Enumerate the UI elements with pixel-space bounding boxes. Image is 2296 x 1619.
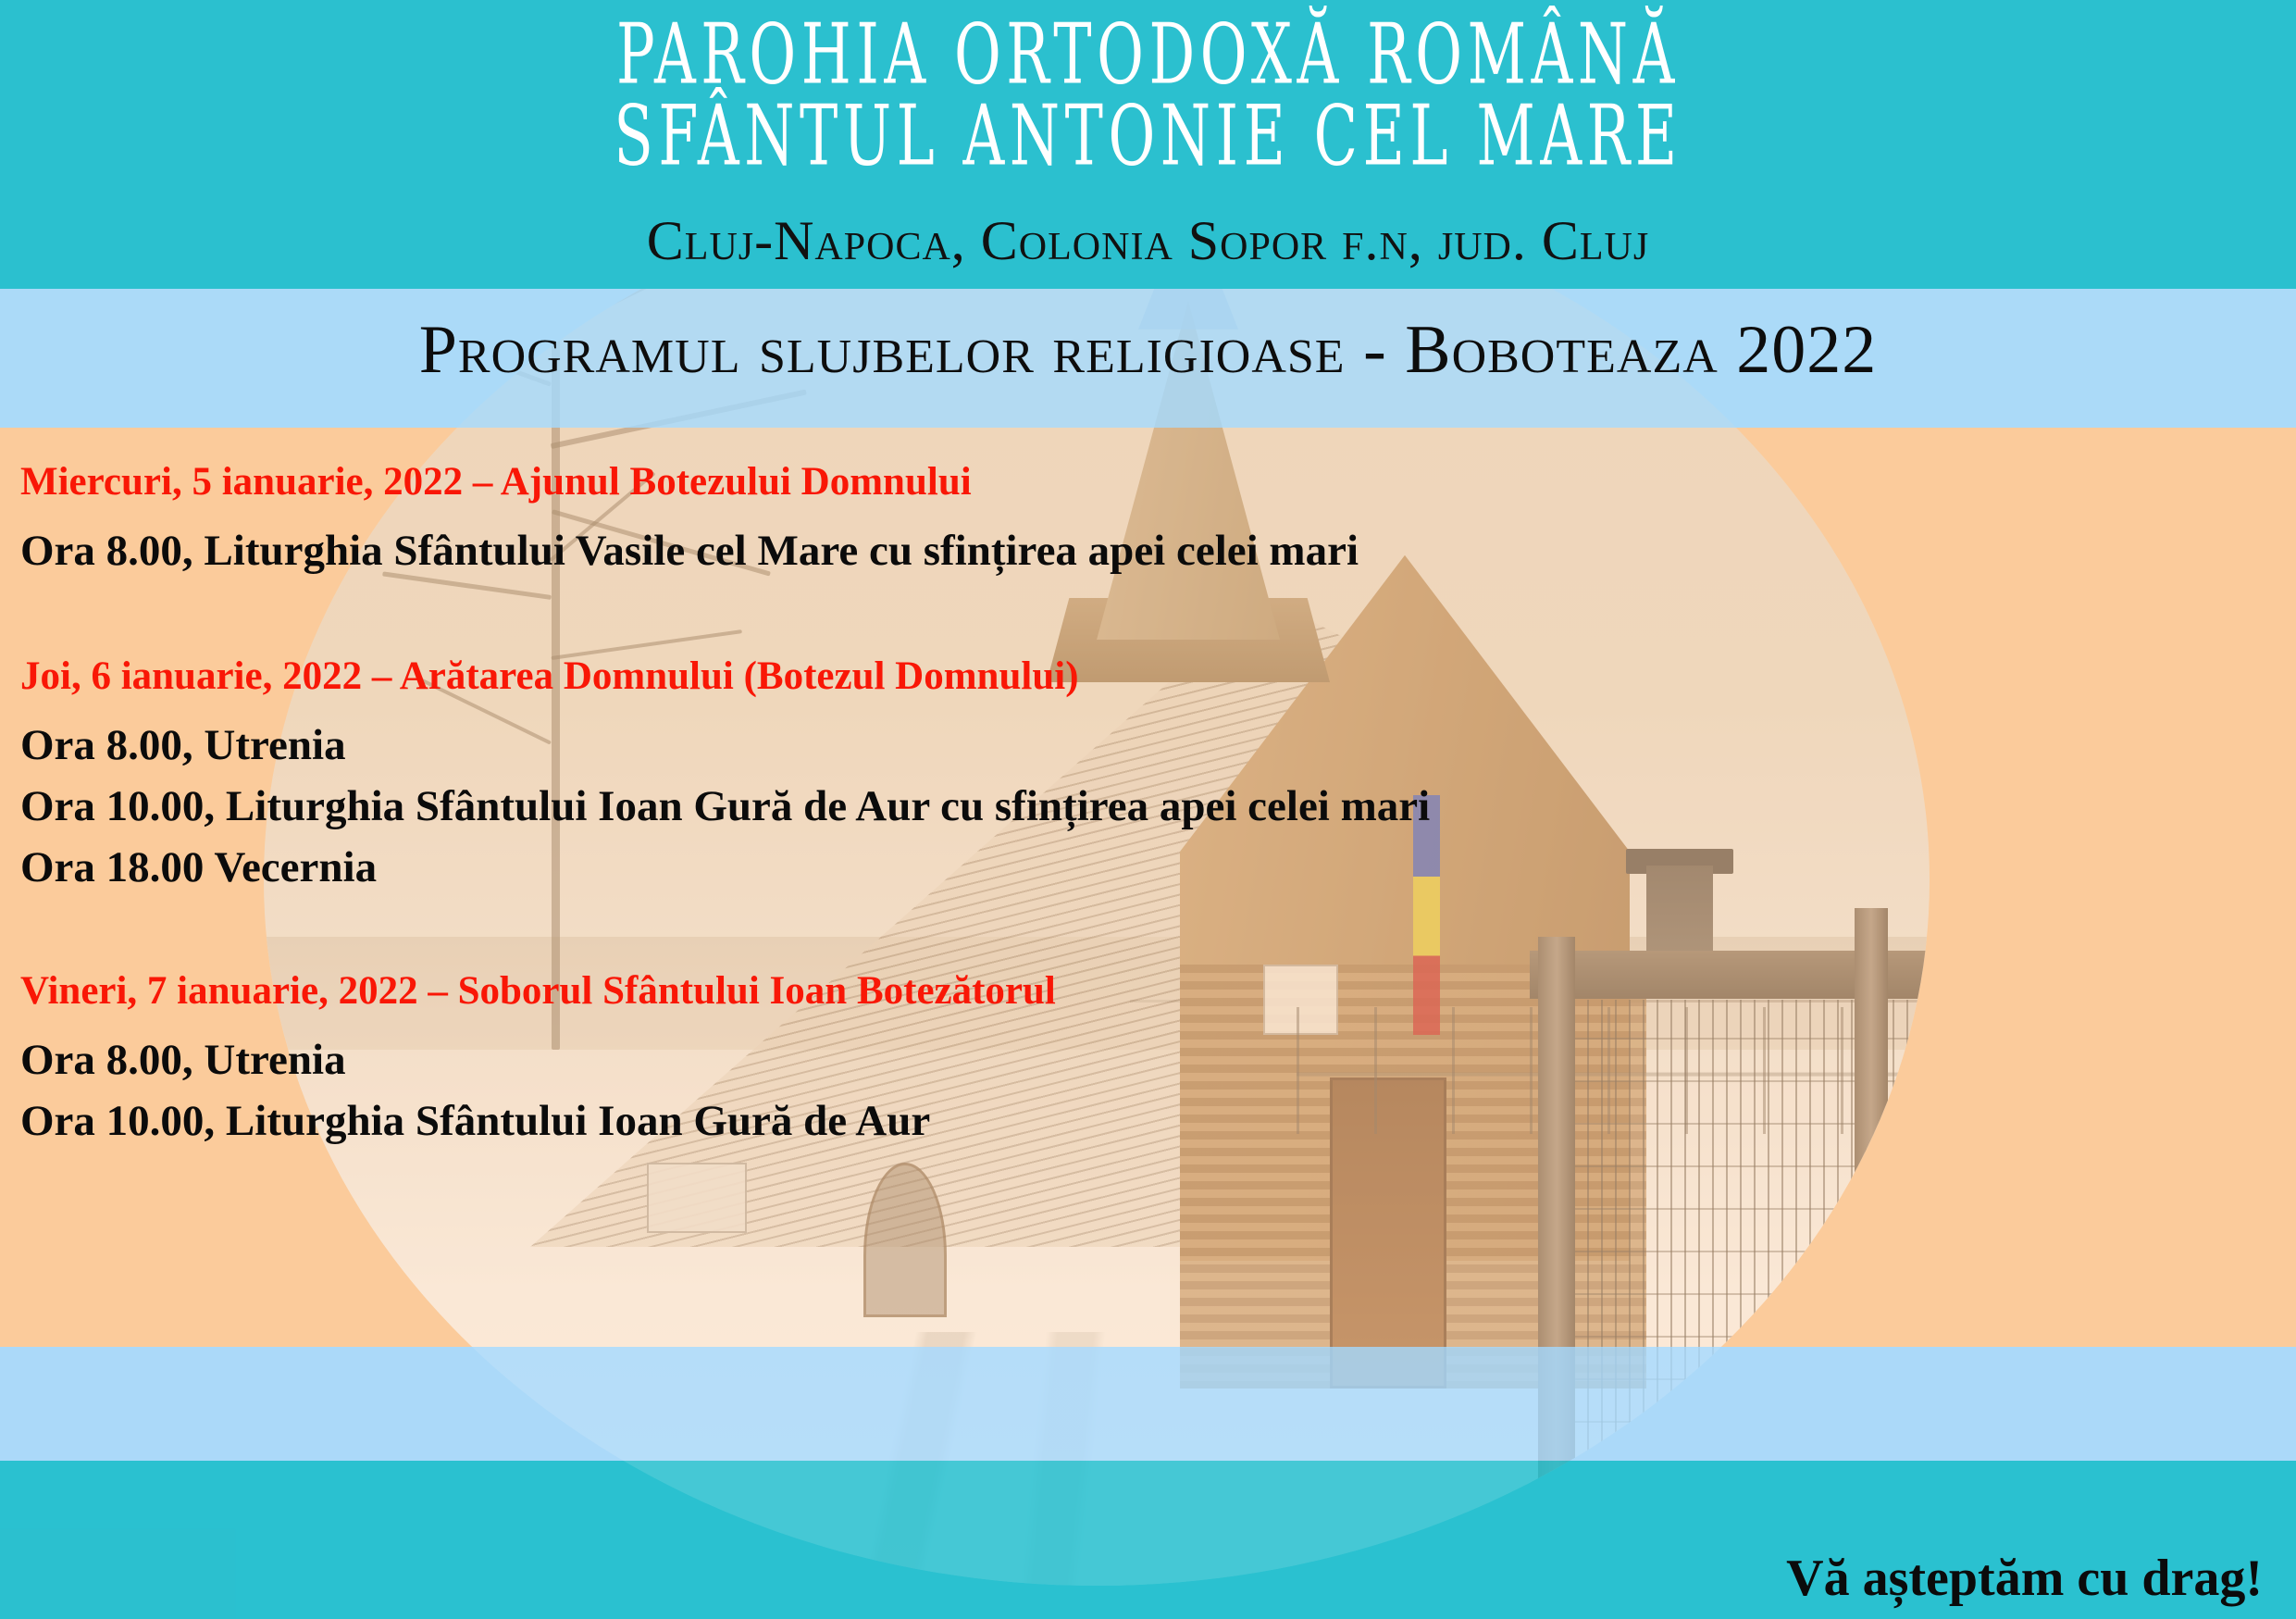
schedule-day: Miercuri, 5 ianuarie, 2022 – Ajunul Bote…	[20, 455, 2185, 581]
schedule-service-line: Ora 8.00, Utrenia	[20, 715, 2185, 776]
parish-address: Cluj-Napoca, Colonia Sopor f.n, jud. Clu…	[0, 211, 2296, 270]
schedule-day: Vineri, 7 ianuarie, 2022 – Soborul Sfânt…	[20, 965, 2185, 1152]
schedule-service-line: Ora 18.00 Vecernia	[20, 837, 2185, 898]
schedule-day-heading: Joi, 6 ianuarie, 2022 – Arătarea Domnulu…	[20, 650, 2185, 704]
schedule-day-heading: Vineri, 7 ianuarie, 2022 – Soborul Sfânt…	[20, 965, 2185, 1018]
schedule-day-heading: Miercuri, 5 ianuarie, 2022 – Ajunul Bote…	[20, 455, 2185, 509]
service-schedule: Miercuri, 5 ianuarie, 2022 – Ajunul Bote…	[20, 455, 2185, 1183]
parish-name-line-2: SFÂNTUL ANTONIE CEL MARE	[81, 91, 2215, 181]
schedule-service-line: Ora 8.00, Liturghia Sfântului Vasile cel…	[20, 520, 2185, 581]
schedule-service-line: Ora 10.00, Liturghia Sfântului Ioan Gură…	[20, 1090, 2185, 1152]
masthead: PAROHIA ORTODOXĂ ROMÂNĂ SFÂNTUL ANTONIE …	[0, 9, 2296, 165]
poster: PAROHIA ORTODOXĂ ROMÂNĂ SFÂNTUL ANTONIE …	[0, 0, 2296, 1619]
poster-content: PAROHIA ORTODOXĂ ROMÂNĂ SFÂNTUL ANTONIE …	[0, 0, 2296, 1619]
schedule-service-line: Ora 8.00, Utrenia	[20, 1029, 2185, 1090]
schedule-day: Joi, 6 ianuarie, 2022 – Arătarea Domnulu…	[20, 650, 2185, 898]
poster-subtitle: Programul slujbelor religioase - Bobotea…	[0, 313, 2296, 387]
schedule-service-line: Ora 10.00, Liturghia Sfântului Ioan Gură…	[20, 776, 2185, 837]
parish-name-line-1: PAROHIA ORTODOXĂ ROMÂNĂ	[81, 9, 2215, 100]
closing-greeting: Vă așteptăm cu drag!	[1786, 1545, 2263, 1612]
